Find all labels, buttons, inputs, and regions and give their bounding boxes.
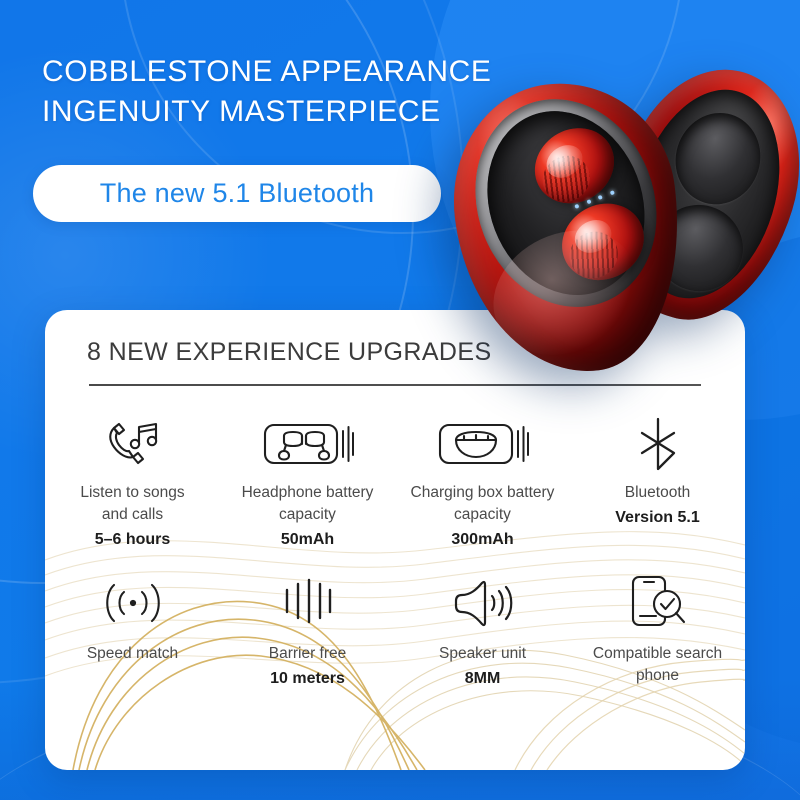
feature-speaker-unit[interactable]: Speaker unit 8MM [395,573,570,690]
feature-value: 50mAh [281,529,334,551]
caption-line-1: Compatible search [593,645,722,662]
feature-barrier-free[interactable]: Barrier free 10 meters [220,573,395,690]
headline-line-1: COBBLESTONE APPEARANCE [42,55,491,88]
caption-line-2: capacity [279,506,336,523]
caption-line-1: Headphone battery [242,484,374,501]
caption-line-1: Bluetooth [625,484,691,501]
feature-caption: Compatible search phone [593,643,722,687]
speaker-icon [449,573,517,633]
caption-line-2: and calls [102,506,163,523]
phone-search-check-icon [627,573,689,633]
case-cavity-top [664,102,771,215]
signal-wave-icon [102,573,164,633]
product-image [455,55,800,395]
feature-listen-to-songs[interactable]: Listen to songs and calls 5–6 hours [45,414,220,551]
barrier-bars-icon [280,573,336,633]
feature-value: Version 5.1 [615,507,700,529]
bluetooth-icon [632,414,684,474]
feature-value: 300mAh [451,529,513,551]
feature-caption: Barrier free [269,643,347,665]
card-title: 8 NEW EXPERIENCE UPGRADES [87,338,492,367]
feature-caption: Speaker unit [439,643,526,665]
phone-music-icon [103,414,163,474]
features-grid: Listen to songs and calls 5–6 hours [45,414,745,691]
feature-value: 5–6 hours [95,529,171,551]
feature-caption: Speed match [87,643,178,665]
feature-caption: Headphone battery capacity [242,482,374,526]
caption-line-1: Barrier free [269,645,347,662]
feature-value: 8MM [465,668,501,690]
caption-line-2: phone [636,667,679,684]
earbuds-battery-icon [262,414,354,474]
caption-line-1: Speed match [87,645,178,662]
caption-line-1: Speaker unit [439,645,526,662]
pill-label: The new 5.1 Bluetooth [100,178,374,209]
caption-line-2: capacity [454,506,511,523]
product-poster: COBBLESTONE APPEARANCE INGENUITY MASTERP… [0,0,800,800]
caption-line-1: Charging box battery [411,484,555,501]
feature-compatible-search-phone[interactable]: Compatible search phone [570,573,745,690]
feature-caption: Charging box battery capacity [411,482,555,526]
caption-line-1: Listen to songs [80,484,184,501]
charging-box-battery-icon [437,414,529,474]
feature-speed-match[interactable]: Speed match [45,573,220,690]
bluetooth-version-pill[interactable]: The new 5.1 Bluetooth [33,165,441,222]
feature-caption: Listen to songs and calls [80,482,184,526]
feature-charging-box-battery[interactable]: Charging box battery capacity 300mAh [395,414,570,551]
feature-value: 10 meters [270,668,345,690]
feature-headphone-battery[interactable]: Headphone battery capacity 50mAh [220,414,395,551]
feature-bluetooth-version[interactable]: Bluetooth Version 5.1 [570,414,745,551]
feature-caption: Bluetooth [625,482,691,504]
